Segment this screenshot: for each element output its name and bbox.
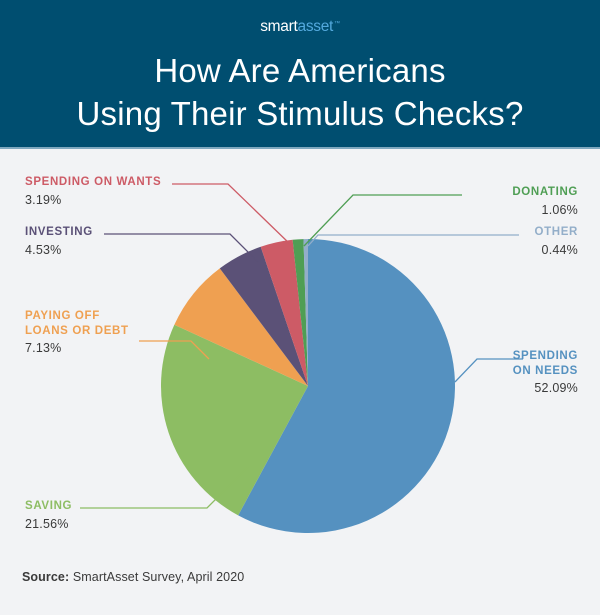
source-note: Source: SmartAsset Survey, April 2020 bbox=[22, 570, 244, 584]
callout-label-spending-on-wants: SPENDING ON WANTS bbox=[25, 175, 161, 190]
callout-donating: DONATING 1.06% bbox=[512, 185, 578, 218]
callout-value-paying-off-loans: 7.13% bbox=[25, 340, 129, 356]
logo-text-asset: asset bbox=[298, 18, 334, 35]
leader-line-donating bbox=[304, 195, 462, 246]
callout-value-investing: 4.53% bbox=[25, 242, 93, 258]
callout-label-investing: INVESTING bbox=[25, 225, 93, 240]
pie-chart-container: SPENDING ON WANTS 3.19% INVESTING 4.53% … bbox=[0, 149, 600, 615]
callout-label-other: OTHER bbox=[535, 225, 579, 240]
logo-text-smart: smart bbox=[260, 18, 297, 35]
callout-paying-off-loans: PAYING OFF LOANS OR DEBT 7.13% bbox=[25, 309, 129, 356]
infographic-canvas: smartasset™ How Are Americans Using Thei… bbox=[0, 0, 600, 615]
callout-value-other: 0.44% bbox=[535, 242, 579, 258]
page-title-line-2: Using Their Stimulus Checks? bbox=[0, 95, 600, 133]
callout-label-donating: DONATING bbox=[512, 185, 578, 200]
callout-spending-on-needs: SPENDING ON NEEDS 52.09% bbox=[513, 349, 578, 396]
callout-saving: SAVING 21.56% bbox=[25, 499, 72, 532]
callout-investing: INVESTING 4.53% bbox=[25, 225, 93, 258]
source-label: Source: bbox=[22, 570, 69, 584]
callout-label-paying-off-loans-line2: LOANS OR DEBT bbox=[25, 324, 129, 339]
callout-other: OTHER 0.44% bbox=[535, 225, 579, 258]
leader-line-saving bbox=[80, 467, 248, 508]
page-title-line-1: How Are Americans bbox=[0, 52, 600, 90]
callout-spending-on-wants: SPENDING ON WANTS 3.19% bbox=[25, 175, 161, 208]
callout-label-saving: SAVING bbox=[25, 499, 72, 514]
leader-line-paying-off-loans bbox=[139, 341, 209, 359]
callout-value-donating: 1.06% bbox=[512, 202, 578, 218]
callout-label-spending-on-needs-line2: ON NEEDS bbox=[513, 364, 578, 379]
leader-line-investing bbox=[104, 234, 258, 262]
callout-value-spending-on-needs: 52.09% bbox=[513, 380, 578, 396]
callout-label-spending-on-needs-line1: SPENDING bbox=[513, 349, 578, 364]
callout-label-paying-off-loans-line1: PAYING OFF bbox=[25, 309, 129, 324]
callout-value-spending-on-wants: 3.19% bbox=[25, 192, 161, 208]
leader-lines-svg bbox=[0, 149, 600, 615]
callout-value-saving: 21.56% bbox=[25, 516, 72, 532]
smartasset-logo: smartasset™ bbox=[0, 18, 600, 36]
source-text: SmartAsset Survey, April 2020 bbox=[69, 570, 244, 584]
leader-line-other bbox=[308, 235, 519, 246]
trademark-icon: ™ bbox=[334, 21, 340, 27]
